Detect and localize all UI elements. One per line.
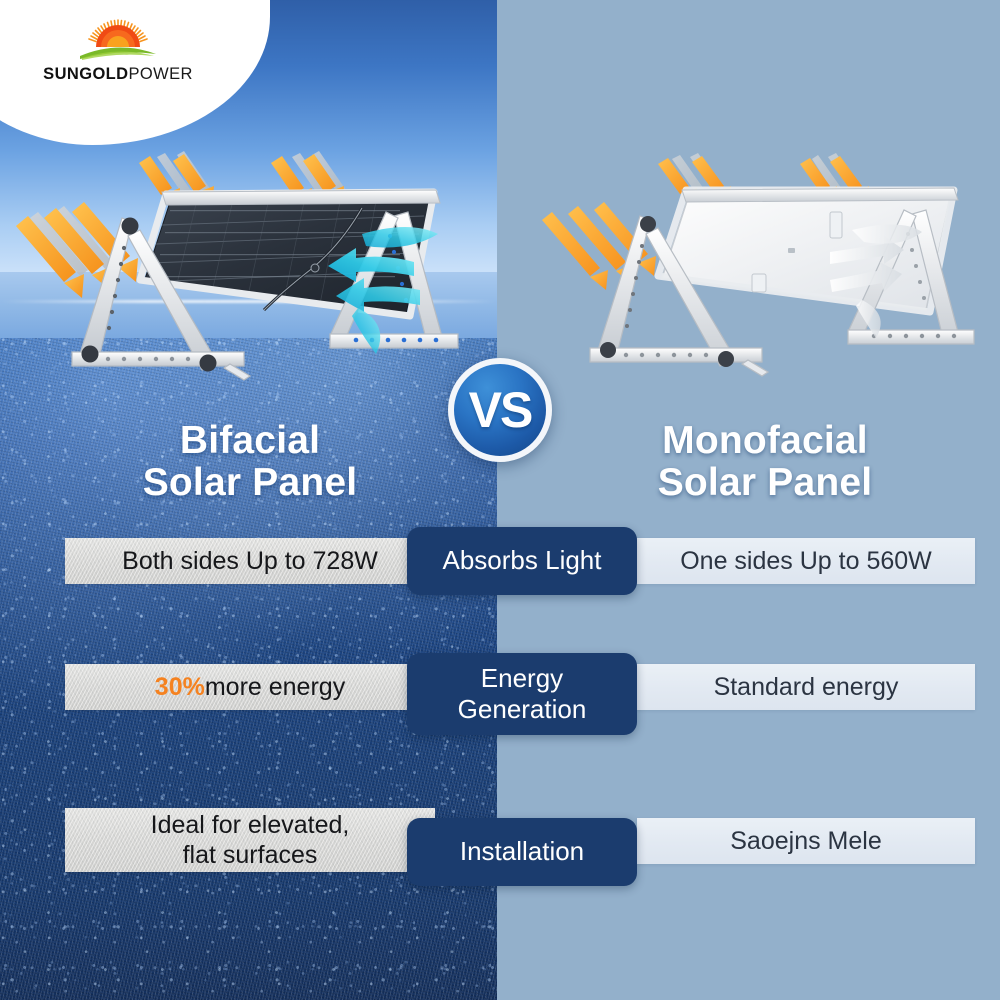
bifacial-panel-illustration — [10, 150, 490, 400]
left-value-text-3: Ideal for elevated, flat surfaces — [151, 810, 350, 871]
brand-name-bold: SUNGOLD — [43, 65, 128, 83]
left-value-row-2: 30% more energy — [65, 664, 435, 710]
right-title-line2: Solar Panel — [565, 462, 965, 504]
left-value-highlight-2: 30% — [155, 672, 205, 703]
left-title: Bifacial Solar Panel — [60, 420, 440, 504]
right-value-row-2: Standard energy — [637, 664, 975, 710]
left-title-line1: Bifacial — [60, 420, 440, 462]
feature-label-2: Energy Generation — [458, 663, 587, 725]
left-title-line2: Solar Panel — [60, 462, 440, 504]
right-value-text-1: One sides Up to 560W — [680, 546, 932, 577]
brand-name-light: POWER — [128, 65, 192, 83]
monofacial-panel-illustration — [530, 150, 1000, 400]
left-value-row-1: Both sides Up to 728W — [65, 538, 435, 584]
right-title: Monofacial Solar Panel — [565, 420, 965, 504]
feature-label-3: Installation — [460, 836, 584, 867]
right-value-text-2: Standard energy — [714, 672, 899, 703]
sunrise-icon — [76, 18, 160, 62]
brand-logo[interactable]: SUNGOLDPOWER — [28, 18, 208, 98]
left-value-row-3: Ideal for elevated, flat surfaces — [65, 808, 435, 872]
brand-wordmark: SUNGOLDPOWER — [43, 66, 193, 83]
infographic-canvas: SUNGOLDPOWER Bifacial Solar Panel Monofa… — [0, 0, 1000, 1000]
right-value-row-1: One sides Up to 560W — [637, 538, 975, 584]
right-title-line1: Monofacial — [565, 420, 965, 462]
feature-pill-2: Energy Generation — [407, 653, 637, 735]
vs-badge: VS — [448, 358, 552, 462]
vs-label: VS — [469, 381, 532, 439]
right-value-text-3: Saoejns Mele — [730, 826, 881, 857]
left-value-text-2: more energy — [205, 672, 345, 703]
feature-pill-1: Absorbs Light — [407, 527, 637, 595]
feature-label-1: Absorbs Light — [443, 545, 602, 576]
feature-pill-3: Installation — [407, 818, 637, 886]
left-value-text-1: Both sides Up to 728W — [122, 546, 378, 577]
right-value-row-3: Saoejns Mele — [637, 818, 975, 864]
